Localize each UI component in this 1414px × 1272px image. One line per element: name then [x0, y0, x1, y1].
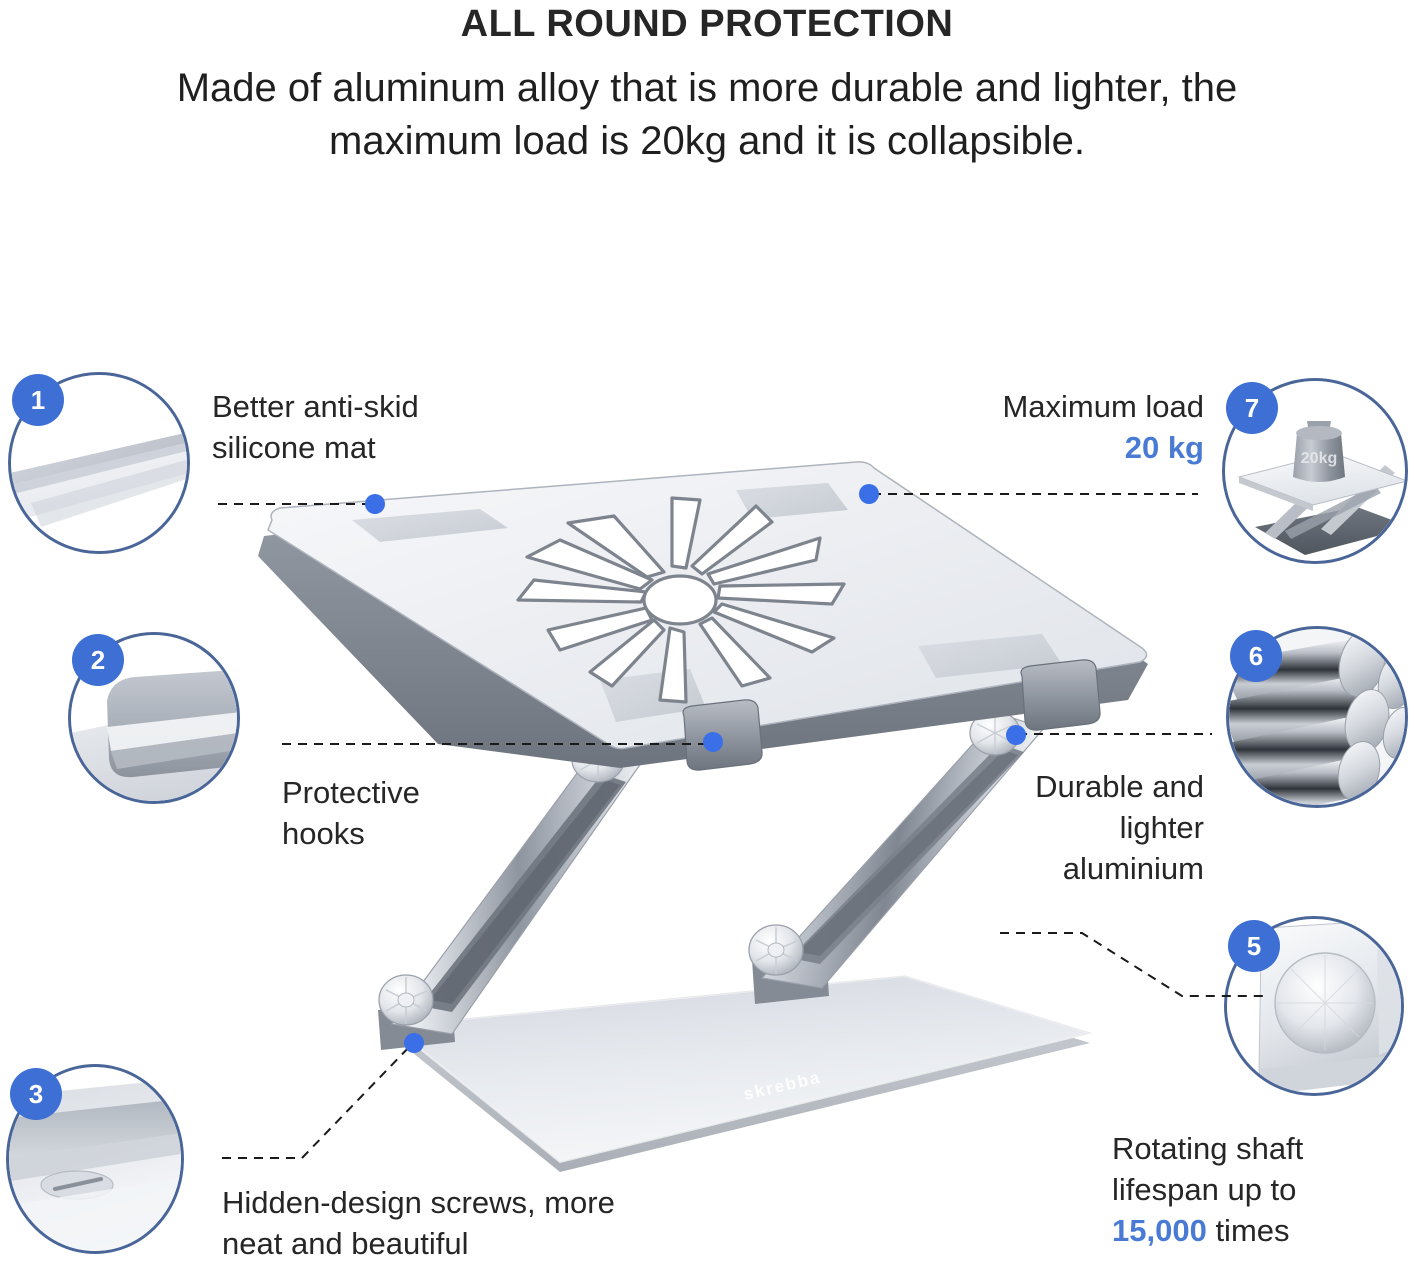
badge-2: 2 — [72, 634, 124, 686]
anchor-dots — [365, 484, 1026, 1053]
badge-1: 1 — [12, 374, 64, 426]
anchor-dot-7 — [859, 484, 879, 504]
anchor-dot-1 — [365, 494, 385, 514]
leader-line-3 — [222, 1044, 412, 1158]
badge-6: 6 — [1230, 630, 1282, 682]
badge-3: 3 — [10, 1068, 62, 1120]
badge-7: 7 — [1226, 382, 1278, 434]
infographic-page: ALL ROUND PROTECTION Made of aluminum al… — [0, 0, 1414, 1272]
anchor-dot-2 — [703, 732, 723, 752]
leader-lines — [0, 0, 1414, 1272]
anchor-dot-3 — [404, 1033, 424, 1053]
anchor-dot-6 — [1006, 725, 1026, 745]
badge-5: 5 — [1228, 920, 1280, 972]
